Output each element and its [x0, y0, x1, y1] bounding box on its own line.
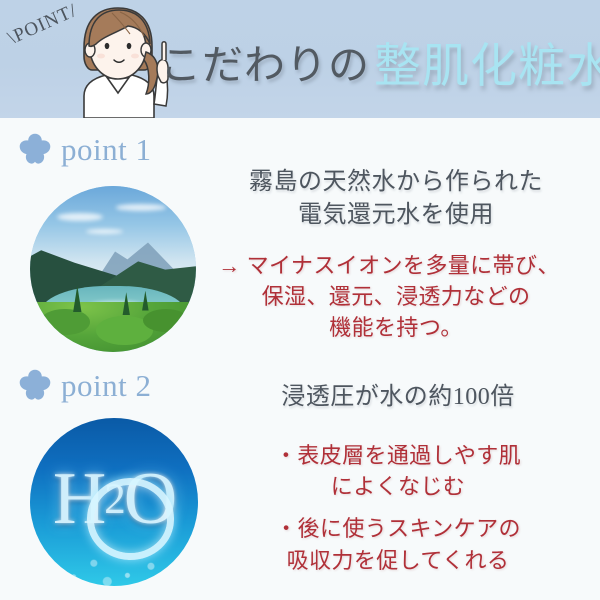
red-line: 保湿、還元、浸透力などの	[196, 281, 596, 312]
point-2-lead: 浸透圧が水の約100倍	[200, 381, 596, 414]
lead-line: 浸透圧が水の約100倍	[200, 381, 596, 414]
point-2-detail-text: ・表皮層を通過しやす肌 によくなじむ ・後に使うスキンケアの 吸収力を促してくれ…	[200, 440, 596, 576]
water-ring-highlight	[87, 478, 175, 559]
point-1-header: point 1	[18, 132, 151, 166]
woman-illustration	[62, 0, 174, 118]
red-line: ・表皮層を通過しやす肌	[200, 440, 596, 471]
point-2-red-group-1: ・表皮層を通過しやす肌 によくなじむ	[200, 440, 596, 502]
red-line: → マイナスイオンを多量に帯び、	[196, 250, 596, 281]
point-2-label: point 2	[61, 370, 151, 401]
point-2-header: point 2	[18, 368, 151, 402]
red-line: ・後に使うスキンケアの	[200, 513, 596, 544]
h2o-water-photo: H2O	[30, 418, 198, 586]
title-accent-text: 整肌化粧水	[374, 27, 600, 96]
lead-line: 霧島の天然水から作られた	[196, 166, 596, 199]
header-banner: \POINT/	[0, 0, 600, 118]
point-1-label: point 1	[61, 134, 151, 165]
flower-icon	[18, 368, 52, 402]
title-primary-text: こだわりの	[160, 31, 370, 91]
red-line: 吸収力を促してくれる	[200, 545, 596, 576]
point-1-red: → マイナスイオンを多量に帯び、 保湿、還元、浸透力などの 機能を持つ。	[196, 250, 596, 344]
kirishima-lake-photo	[30, 186, 196, 352]
point-1-lead-text: 霧島の天然水から作られた 電気還元水を使用	[196, 166, 596, 232]
point-2-red-group-2: ・後に使うスキンケアの 吸収力を促してくれる	[200, 513, 596, 575]
page-title: こだわりの 整肌化粧水	[160, 26, 596, 96]
red-line: 機能を持つ。	[196, 312, 596, 343]
lead-line: 電気還元水を使用	[196, 199, 596, 232]
red-line: によくなじむ	[200, 471, 596, 502]
cloud-2	[116, 204, 166, 211]
infographic-page: \POINT/	[0, 0, 600, 600]
bush-1	[40, 309, 90, 336]
cloud-1	[57, 213, 103, 221]
flower-icon	[18, 132, 52, 166]
point-1-detail-text: → マイナスイオンを多量に帯び、 保湿、還元、浸透力などの 機能を持つ。	[196, 250, 596, 344]
point-1-lead: 霧島の天然水から作られた 電気還元水を使用	[196, 166, 596, 232]
point-2-lead-text: 浸透圧が水の約100倍	[200, 381, 596, 414]
